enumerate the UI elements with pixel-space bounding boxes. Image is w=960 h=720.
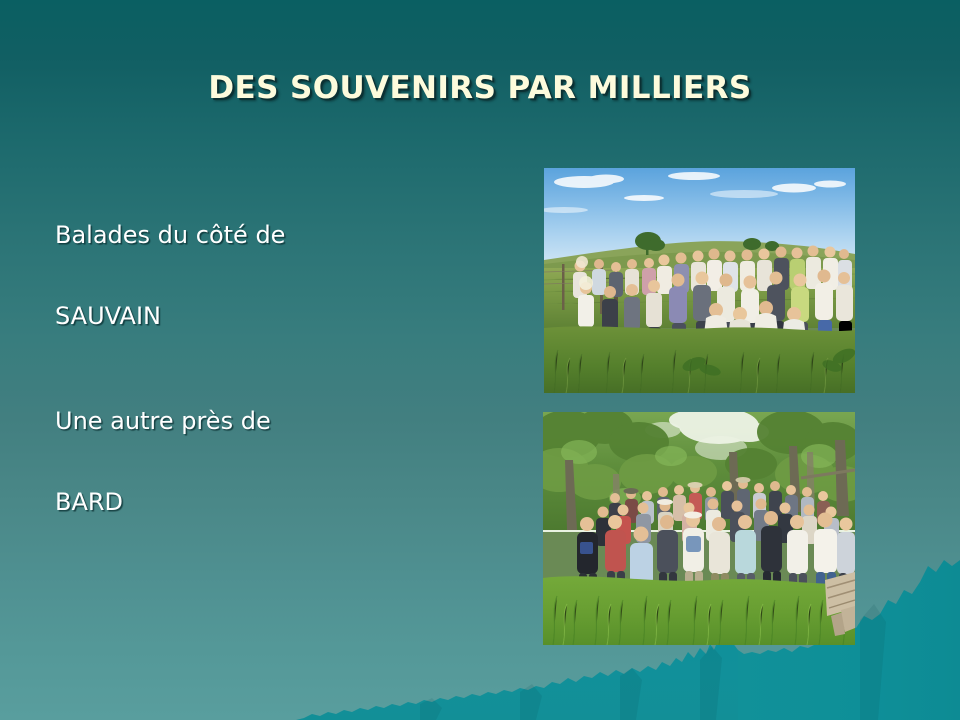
photo-sauvain-hike xyxy=(544,168,855,393)
spacer xyxy=(55,436,485,489)
photo-bard-hike xyxy=(543,412,855,645)
body-line-bard: BARD xyxy=(55,489,485,517)
body-text-block: Balades du côté de SAUVAIN Une autre prè… xyxy=(55,222,485,516)
body-line-balades: Balades du côté de xyxy=(55,222,485,250)
body-line-sauvain: SAUVAIN xyxy=(55,303,485,331)
slide-title: DES SOUVENIRS PAR MILLIERS xyxy=(0,70,960,106)
body-line-une-autre: Une autre près de xyxy=(55,408,485,436)
presentation-slide: DES SOUVENIRS PAR MILLIERS Balades du cô… xyxy=(0,0,960,720)
spacer xyxy=(55,250,485,303)
spacer xyxy=(55,330,485,408)
